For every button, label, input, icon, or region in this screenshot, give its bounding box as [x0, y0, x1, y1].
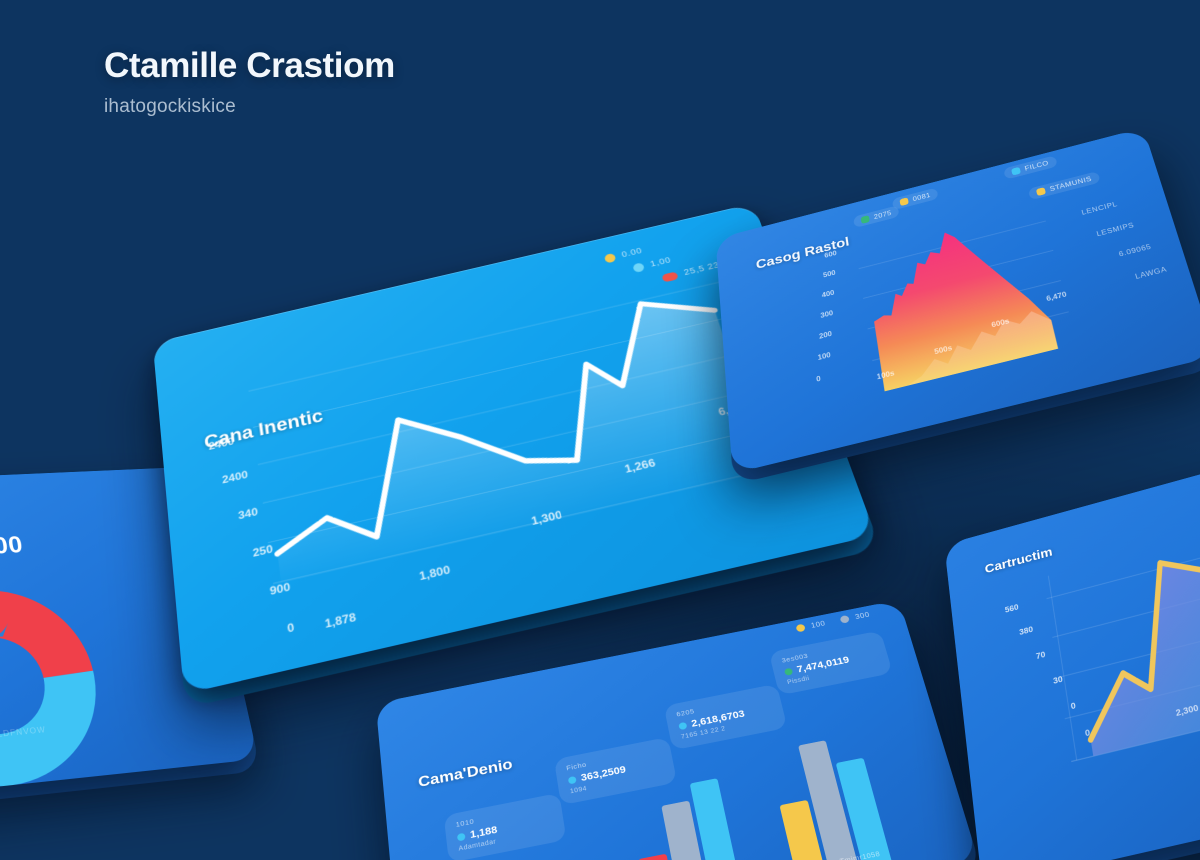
chip-dot-yellow-icon	[899, 197, 908, 206]
area-chart-card[interactable]: Casog Rastol 2075 0081 FILCO STAMUNIS LE…	[715, 128, 1200, 474]
legend-chip[interactable]: 0081	[892, 187, 939, 210]
main-line-chart[interactable]	[247, 266, 796, 595]
stat-dot-icon	[457, 833, 466, 842]
chip-label: 2075	[873, 209, 892, 220]
chip-dot-cyan-icon	[1011, 167, 1021, 176]
card-face: Cartructim	[944, 464, 1200, 860]
donut-big-value: 2500	[0, 531, 25, 562]
legend-item[interactable]: 100	[795, 620, 826, 633]
stat-dot-icon	[678, 722, 687, 730]
side-label: LAWGA	[1134, 265, 1168, 280]
chip-label: 0081	[912, 192, 931, 203]
dashboard-scene: Ctamille Crastiom ihatogockiskice 360 90…	[0, 0, 1200, 860]
legend-dot-yellow-icon	[604, 253, 617, 264]
x-axis-label: 1,878	[324, 610, 357, 631]
stat-tile[interactable]: 3es003 7,474,0119 Pissdii	[769, 630, 893, 695]
y-axis-label: 340	[237, 505, 258, 522]
y-axis-label: 100	[817, 351, 831, 362]
chip-label: FILCO	[1024, 159, 1049, 172]
bar-group-1	[627, 778, 743, 860]
x-axis-label: 1,800	[418, 563, 451, 583]
page-subtitle: ihatogockiskice	[104, 96, 395, 118]
side-label: 6.09065	[1118, 243, 1152, 258]
legend-dot-cyan-icon	[633, 262, 646, 273]
stat-tile[interactable]: 1010 1,188 Adamtadar	[444, 793, 567, 860]
y-axis-label: 900	[269, 580, 291, 598]
legend-label: 100	[810, 620, 826, 630]
chip-label: STAMUNIS	[1049, 175, 1092, 192]
stat-tile[interactable]: 6205 2,618,6703 7165 13 22 2	[664, 684, 788, 751]
side-label: LENCIPL	[1081, 200, 1119, 216]
x-axis-label: 1,300	[530, 508, 563, 528]
legend-chip[interactable]: FILCO	[1003, 155, 1057, 179]
legend-item[interactable]: 300	[839, 611, 870, 624]
side-label: LESMIPS	[1096, 221, 1135, 238]
stat-dot-icon	[784, 668, 793, 676]
gold-card-title: Cartructim	[984, 545, 1053, 577]
y-axis-label: 250	[252, 542, 274, 559]
y-axis-label: 70	[1035, 650, 1046, 661]
y-axis-label: 400	[821, 289, 834, 299]
chart-area-fill	[1066, 542, 1200, 756]
stats-card[interactable]: Cama'Denio 100 300 1010 1,188 Adamtadar	[376, 600, 979, 860]
y-axis-label: 300	[820, 309, 834, 320]
bar-chart[interactable]	[617, 718, 951, 860]
y-axis-label: 0	[816, 375, 821, 384]
stat-dot-icon	[568, 776, 577, 785]
x-axis-label: 1,266	[623, 456, 657, 475]
y-axis-label: 2400	[221, 468, 248, 486]
card-face: Cama'Denio 100 300 1010 1,188 Adamtadar	[376, 600, 979, 860]
bar-group-2	[767, 734, 893, 860]
y-axis-label: 0	[286, 620, 295, 635]
stats-card-title: Cama'Denio	[417, 755, 513, 791]
legend-dot-gray-icon	[839, 615, 849, 624]
card-face: Casog Rastol 2075 0081 FILCO STAMUNIS LE…	[715, 128, 1200, 474]
chart-area-fill	[256, 288, 768, 582]
y-axis-label: 560	[1004, 603, 1019, 615]
page-title: Ctamille Crastiom	[104, 46, 395, 86]
gold-line-card[interactable]: Cartructim	[944, 464, 1200, 860]
legend-dot-yellow-icon	[795, 624, 805, 633]
y-axis-label: 500	[823, 269, 836, 279]
y-axis-label: 380	[1019, 625, 1034, 637]
y-axis-label: 600	[824, 249, 837, 259]
page-heading: Ctamille Crastiom ihatogockiskice	[104, 46, 395, 118]
legend-label: 1,00	[649, 256, 672, 269]
gold-line-chart[interactable]	[1043, 524, 1200, 781]
donut-primary-value: 2500	[0, 531, 25, 563]
y-axis-label: 200	[819, 330, 833, 341]
legend-label: 300	[854, 611, 870, 621]
legend-label: 0.00	[621, 247, 644, 260]
donut-chart[interactable]	[0, 575, 123, 795]
chip-dot-green-icon	[861, 215, 870, 224]
area-chart[interactable]	[855, 193, 1077, 394]
legend-chip[interactable]: 2075	[853, 205, 900, 228]
